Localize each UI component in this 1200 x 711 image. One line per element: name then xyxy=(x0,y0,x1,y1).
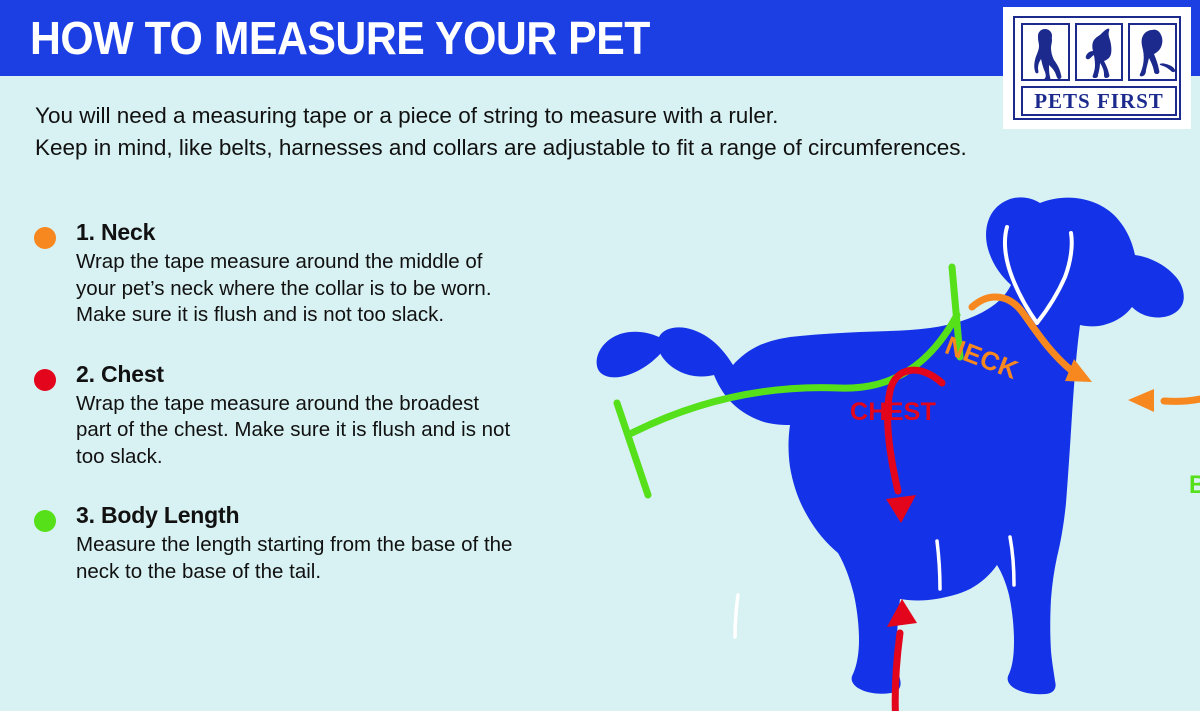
step-desc-neck: Wrap the tape measure around the middle … xyxy=(76,249,550,329)
step-title-body-length: 3. Body Length xyxy=(76,501,550,530)
logo-frame: PETS FIRST xyxy=(1013,16,1181,120)
step-title-neck: 1. Neck xyxy=(76,218,550,247)
bullet-icon-body-length xyxy=(34,510,56,532)
step-desc-line: Wrap the tape measure around the broades… xyxy=(76,391,550,418)
step-item-body-length: 3. Body Length Measure the length starti… xyxy=(30,501,550,585)
dog-sitting-icon xyxy=(1021,23,1070,81)
dog-howling-icon xyxy=(1075,23,1124,81)
page-title: HOW TO MEASURE YOUR PET xyxy=(30,13,650,63)
step-item-chest: 2. Chest Wrap the tape measure around th… xyxy=(30,360,550,471)
intro-line-2: Keep in mind, like belts, harnesses and … xyxy=(35,132,975,164)
chest-label: CHEST xyxy=(850,398,936,427)
bullet-icon-chest xyxy=(34,369,56,391)
intro-text: You will need a measuring tape or a piec… xyxy=(35,100,975,164)
step-desc-line: too slack. xyxy=(76,444,550,471)
infographic-page: HOW TO MEASURE YOUR PET xyxy=(0,0,1200,711)
logo-panels xyxy=(1021,23,1177,81)
brand-logo: PETS FIRST xyxy=(1003,7,1191,129)
step-desc-line: your pet’s neck where the collar is to b… xyxy=(76,276,550,303)
step-desc-chest: Wrap the tape measure around the broades… xyxy=(76,391,550,471)
body-length-label: BODY LENGTH xyxy=(1189,471,1200,500)
step-desc-line: Make sure it is flush and is not too sla… xyxy=(76,302,550,329)
step-item-neck: 1. Neck Wrap the tape measure around the… xyxy=(30,218,550,329)
step-title-chest: 2. Chest xyxy=(76,360,550,389)
step-desc-line: part of the chest. Make sure it is flush… xyxy=(76,417,550,444)
dog-sitting-alert-icon xyxy=(1128,23,1177,81)
step-desc-body-length: Measure the length starting from the bas… xyxy=(76,532,550,585)
logo-wordmark: PETS FIRST xyxy=(1021,86,1177,116)
step-desc-line: Measure the length starting from the bas… xyxy=(76,532,550,559)
intro-line-1: You will need a measuring tape or a piec… xyxy=(35,100,975,132)
step-desc-line: neck to the base of the tail. xyxy=(76,559,550,586)
steps-list: 1. Neck Wrap the tape measure around the… xyxy=(30,218,550,616)
bullet-icon-neck xyxy=(34,227,56,249)
dog-illustration: BODY LENGTH xyxy=(520,185,1200,711)
step-desc-line: Wrap the tape measure around the middle … xyxy=(76,249,550,276)
